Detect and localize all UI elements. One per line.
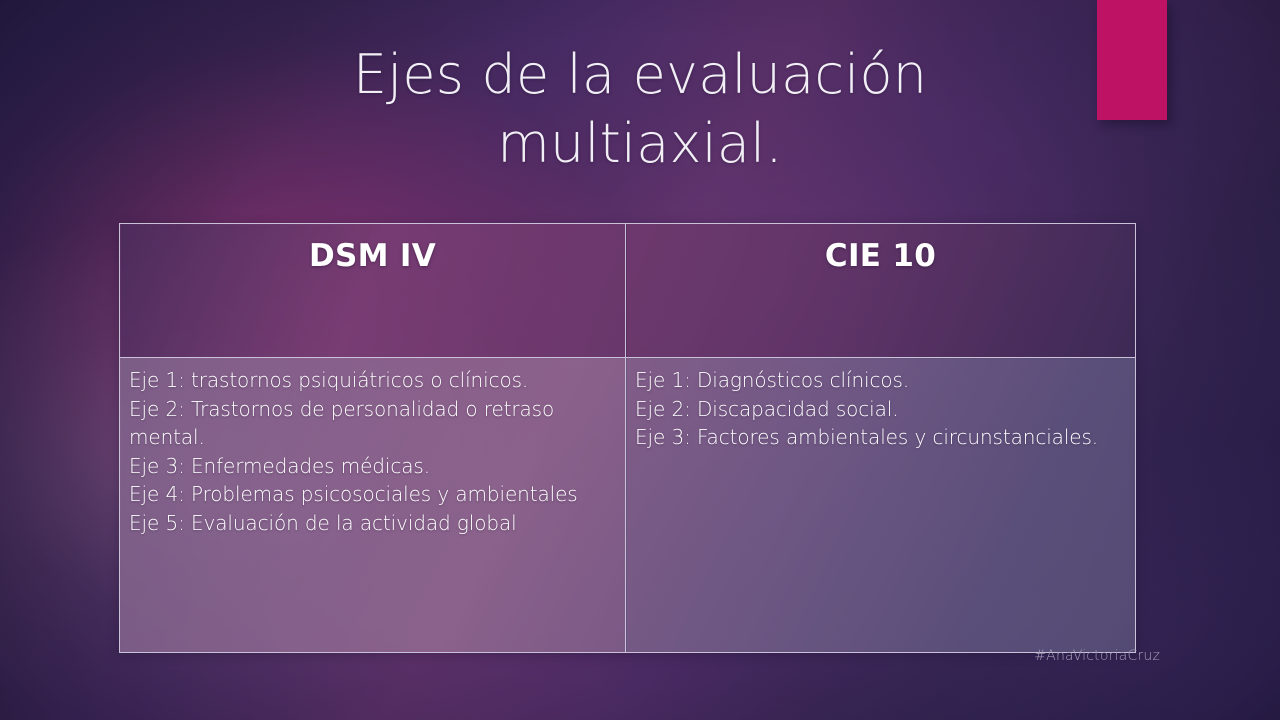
table-header-row-group: DSM IV CIE 10 [120,224,1136,358]
table-body: Eje 1: trastornos psiquiátricos o clínic… [120,358,1136,653]
cell-dsm-iv-axes: Eje 1: trastornos psiquiátricos o clínic… [120,358,626,653]
cell-cie-10-axes: Eje 1: Diagnósticos clínicos. Eje 2: Dis… [626,358,1136,653]
column-header-dsm-iv: DSM IV [120,224,626,358]
column-header-cie-10: CIE 10 [626,224,1136,358]
presentation-slide: Ejes de la evaluación multiaxial. DSM IV… [0,0,1280,720]
table-row: Eje 1: trastornos psiquiátricos o clínic… [120,358,1136,653]
accent-bar-magenta [1097,0,1167,120]
table-header-row: DSM IV CIE 10 [120,224,1136,358]
cell-dsm-iv-text: Eje 1: trastornos psiquiátricos o clínic… [129,366,615,538]
cell-cie-10-text: Eje 1: Diagnósticos clínicos. Eje 2: Dis… [635,366,1125,452]
multiaxial-comparison-table: DSM IV CIE 10 Eje 1: trastornos psiquiát… [119,223,1136,653]
slide-title: Ejes de la evaluación multiaxial. [180,40,1100,178]
author-handle: #AnaVictoriaCruz [1034,648,1160,664]
